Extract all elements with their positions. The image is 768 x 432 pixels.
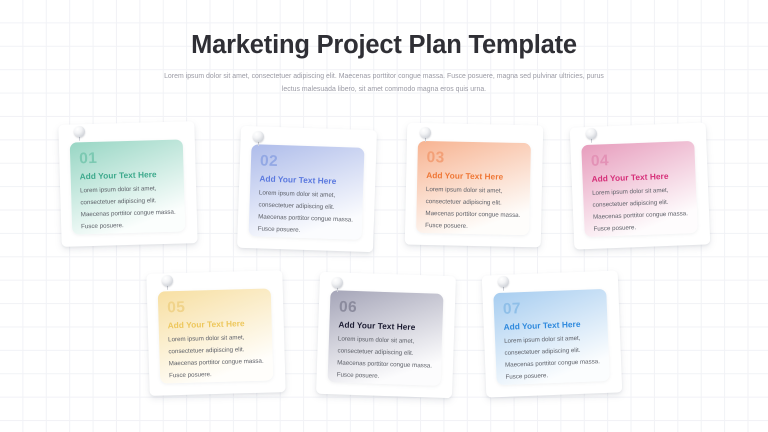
- pushpin-icon: [585, 128, 598, 143]
- card-title: Add Your Text Here: [338, 319, 434, 332]
- card-title: Add Your Text Here: [80, 168, 176, 181]
- card-body-text: Lorem ipsum dolor sit amet, consectetuer…: [337, 333, 439, 384]
- sticky-note[interactable]: 02Add Your Text HereLorem ipsum dolor si…: [249, 144, 365, 240]
- card-title: Add Your Text Here: [591, 170, 687, 184]
- card-body-text: Lorem ipsum dolor sit amet, consectetuer…: [592, 184, 694, 235]
- step-card-03[interactable]: 03Add Your Text HereLorem ipsum dolor si…: [406, 124, 542, 246]
- sticky-note[interactable]: 05Add Your Text HereLorem ipsum dolor si…: [158, 288, 274, 383]
- pushpin-head: [498, 276, 509, 287]
- step-card-01[interactable]: 01Add Your Text HereLorem ipsum dolor si…: [60, 123, 196, 245]
- card-number: 03: [426, 150, 522, 168]
- card-title: Add Your Text Here: [426, 170, 522, 182]
- pushpin-head: [332, 277, 343, 288]
- step-card-02[interactable]: 02Add Your Text HereLorem ipsum dolor si…: [239, 128, 375, 250]
- sticky-note[interactable]: 04Add Your Text HereLorem ipsum dolor si…: [581, 141, 697, 237]
- pushpin-head: [253, 131, 264, 142]
- step-card-07[interactable]: 07Add Your Text HereLorem ipsum dolor si…: [484, 273, 620, 395]
- slide-header: Marketing Project Plan Template Lorem ip…: [0, 30, 768, 97]
- sticky-note[interactable]: 07Add Your Text HereLorem ipsum dolor si…: [493, 289, 609, 385]
- card-number: 02: [260, 153, 356, 172]
- page-title: Marketing Project Plan Template: [0, 30, 768, 61]
- card-title: Add Your Text Here: [168, 317, 264, 330]
- pushpin-head: [586, 128, 597, 139]
- sticky-note[interactable]: 06Add Your Text HereLorem ipsum dolor si…: [328, 290, 444, 386]
- card-title: Add Your Text Here: [503, 318, 599, 332]
- pushpin-icon: [252, 131, 265, 146]
- card-body-text: Lorem ipsum dolor sit amet, consectetuer…: [425, 184, 526, 234]
- pushpin-icon: [331, 277, 344, 292]
- pushpin-icon: [73, 126, 86, 141]
- card-body-text: Lorem ipsum dolor sit amet, consectetuer…: [80, 183, 181, 233]
- sticky-note[interactable]: 03Add Your Text HereLorem ipsum dolor si…: [416, 141, 531, 235]
- pushpin-head: [420, 127, 431, 138]
- card-body-text: Lorem ipsum dolor sit amet, consectetuer…: [504, 332, 606, 383]
- step-card-06[interactable]: 06Add Your Text HereLorem ipsum dolor si…: [318, 274, 454, 396]
- sticky-note[interactable]: 01Add Your Text HereLorem ipsum dolor si…: [70, 139, 186, 234]
- card-number: 01: [79, 149, 175, 167]
- card-number: 04: [591, 150, 688, 169]
- slide-canvas: Marketing Project Plan Template Lorem ip…: [0, 0, 768, 432]
- step-card-04[interactable]: 04Add Your Text HereLorem ipsum dolor si…: [572, 125, 708, 247]
- card-title: Add Your Text Here: [259, 173, 355, 186]
- card-body-text: Lorem ipsum dolor sit amet, consectetuer…: [258, 187, 360, 238]
- pushpin-icon: [419, 127, 432, 142]
- pushpin-icon: [497, 276, 510, 291]
- card-number: 05: [167, 298, 263, 316]
- pushpin-head: [74, 126, 85, 137]
- page-subtitle: Lorem ipsum dolor sit amet, consectetuer…: [161, 70, 607, 97]
- pushpin-icon: [161, 275, 174, 290]
- card-number: 06: [339, 299, 435, 318]
- pushpin-head: [162, 275, 173, 286]
- card-body-text: Lorem ipsum dolor sit amet, consectetuer…: [168, 332, 269, 382]
- step-card-05[interactable]: 05Add Your Text HereLorem ipsum dolor si…: [148, 272, 284, 394]
- card-number: 07: [503, 298, 600, 317]
